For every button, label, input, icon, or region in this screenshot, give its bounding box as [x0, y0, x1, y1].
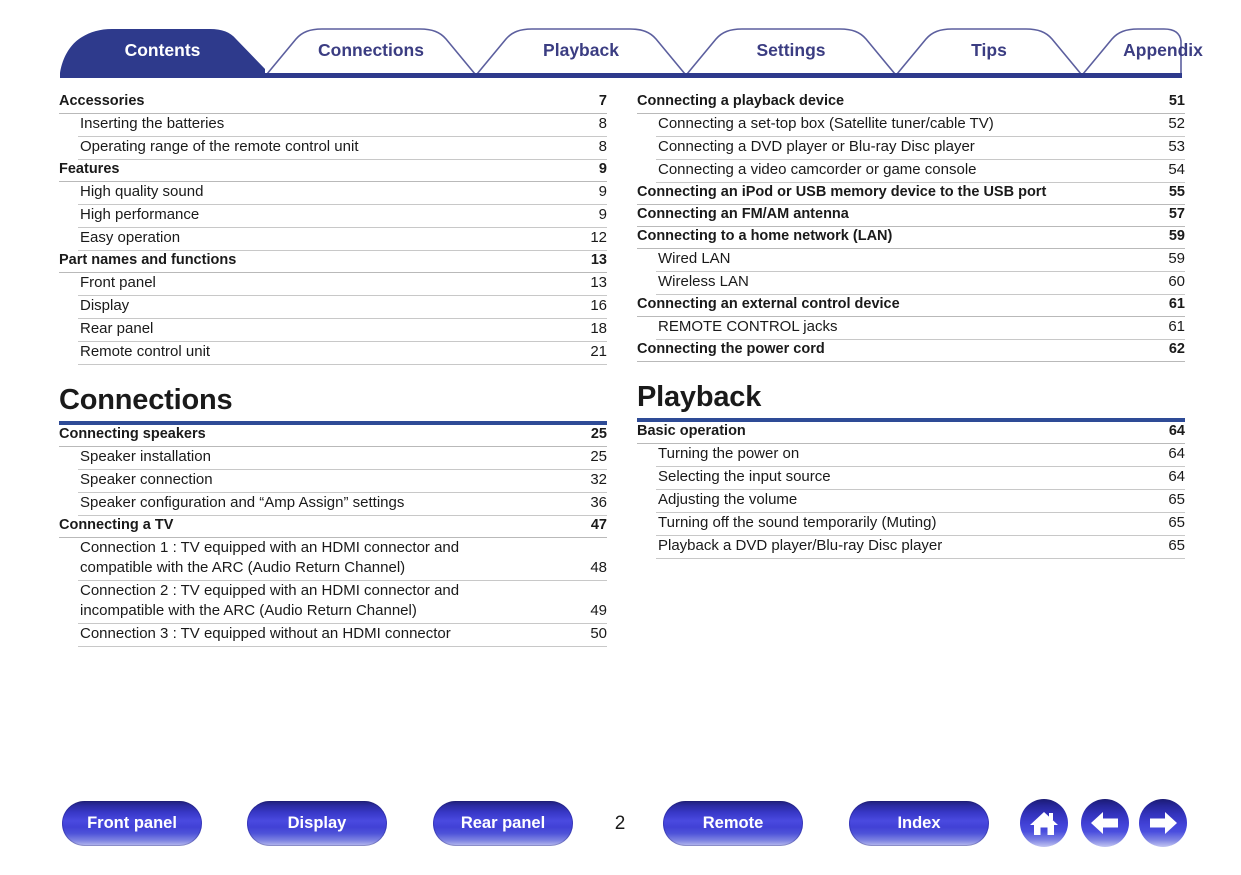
- toc-list: Connecting speakers25Speaker installatio…: [59, 425, 607, 647]
- toc-entry-page: 47: [591, 516, 607, 535]
- toc-entry-page: 12: [590, 228, 607, 248]
- toc-entry-label: Accessories: [59, 92, 144, 111]
- arrow-right-icon[interactable]: [1139, 799, 1187, 847]
- toc-entry-row[interactable]: Speaker installation25: [78, 447, 607, 470]
- toc-entry-page: 51: [1169, 92, 1185, 111]
- tab-bar: Contents Connections Playback Settings T…: [60, 27, 1182, 78]
- toc-entry-label: Rear panel: [78, 319, 153, 339]
- toc-entry-row[interactable]: Connection 1 : TV equipped with an HDMI …: [78, 538, 607, 581]
- tab-tips[interactable]: Tips: [897, 27, 1081, 74]
- toc-entry-page: 65: [1168, 513, 1185, 533]
- toc-entry-page: 61: [1168, 317, 1185, 337]
- page-number: 2: [600, 801, 640, 846]
- toc-entry-page: 59: [1168, 249, 1185, 269]
- toc-entry-label: Connecting a TV: [59, 516, 173, 535]
- toc-entry-label: Playback a DVD player/Blu-ray Disc playe…: [656, 536, 942, 556]
- toc-entry-row[interactable]: Connection 2 : TV equipped with an HDMI …: [78, 581, 607, 624]
- toc-chapter-row[interactable]: Connecting an external control device61: [637, 295, 1185, 317]
- toc-entry-label: Connecting an external control device: [637, 295, 900, 314]
- toc-column-left: Accessories7Inserting the batteries8Oper…: [59, 92, 607, 647]
- toc-entry-row[interactable]: Wireless LAN60: [656, 272, 1185, 295]
- toc-entry-label: Connection 1 : TV equipped with an HDMI …: [78, 538, 508, 578]
- toc-chapter-row[interactable]: Accessories7: [59, 92, 607, 114]
- toc-entry-page: 32: [590, 470, 607, 490]
- toc-list: Accessories7Inserting the batteries8Oper…: [59, 92, 607, 365]
- toc-entry-label: High quality sound: [78, 182, 203, 202]
- toc-entry-row[interactable]: Connection 3 : TV equipped without an HD…: [78, 624, 607, 647]
- toc-entry-page: 48: [590, 558, 607, 578]
- tab-settings[interactable]: Settings: [687, 27, 895, 74]
- toc-chapter-row[interactable]: Features9: [59, 160, 607, 182]
- toc-entry-label: Connecting a playback device: [637, 92, 844, 111]
- section-title: Playback: [637, 380, 1185, 414]
- toc-chapter-row[interactable]: Connecting a TV47: [59, 516, 607, 538]
- toc-chapter-row[interactable]: Connecting to a home network (LAN)59: [637, 227, 1185, 249]
- toc-chapter-row[interactable]: Connecting speakers25: [59, 425, 607, 447]
- tab-playback[interactable]: Playback: [477, 27, 685, 74]
- toc-entry-page: 36: [590, 493, 607, 513]
- toc-entry-label: Easy operation: [78, 228, 180, 248]
- toc-entry-label: Connecting a set-top box (Satellite tune…: [656, 114, 994, 134]
- toc-entry-page: 52: [1168, 114, 1185, 134]
- toc-entry-label: Speaker installation: [78, 447, 211, 467]
- nav-button-rear-panel[interactable]: Rear panel: [433, 801, 573, 846]
- toc-entry-label: Connecting a DVD player or Blu-ray Disc …: [656, 137, 975, 157]
- toc-entry-row[interactable]: Rear panel18: [78, 319, 607, 342]
- toc-entry-page: 65: [1168, 536, 1185, 556]
- toc-entry-page: 54: [1168, 160, 1185, 180]
- toc-entry-page: 8: [599, 114, 607, 134]
- toc-entry-page: 65: [1168, 490, 1185, 510]
- toc-entry-label: Operating range of the remote control un…: [78, 137, 359, 157]
- toc-entry-label: Connecting the power cord: [637, 340, 825, 359]
- toc-chapter-row[interactable]: Basic operation64: [637, 422, 1185, 444]
- toc-entry-label: Connection 2 : TV equipped with an HDMI …: [78, 581, 508, 621]
- toc-entry-page: 16: [590, 296, 607, 316]
- toc-entry-row[interactable]: Display16: [78, 296, 607, 319]
- toc-entry-label: Speaker configuration and “Amp Assign” s…: [78, 493, 404, 513]
- toc-entry-label: Turning the power on: [656, 444, 799, 464]
- toc-entry-label: Display: [78, 296, 129, 316]
- toc-entry-label: Connecting an FM/AM antenna: [637, 205, 849, 224]
- toc-entry-page: 62: [1169, 340, 1185, 359]
- toc-entry-row[interactable]: Playback a DVD player/Blu-ray Disc playe…: [656, 536, 1185, 559]
- toc-entry-label: Part names and functions: [59, 251, 236, 270]
- toc-entry-row[interactable]: Wired LAN59: [656, 249, 1185, 272]
- toc-entry-row[interactable]: Speaker connection32: [78, 470, 607, 493]
- toc-entry-page: 9: [599, 160, 607, 179]
- toc-entry-label: Front panel: [78, 273, 156, 293]
- toc-entry-page: 7: [599, 92, 607, 111]
- toc-entry-label: Connection 3 : TV equipped without an HD…: [78, 624, 451, 644]
- toc-entry-row[interactable]: High performance9: [78, 205, 607, 228]
- toc-entry-label: Speaker connection: [78, 470, 213, 490]
- toc-entry-page: 25: [591, 425, 607, 444]
- toc-entry-page: 13: [590, 273, 607, 293]
- toc-entry-page: 18: [590, 319, 607, 339]
- toc-entry-row[interactable]: Inserting the batteries8: [78, 114, 607, 137]
- toc-entry-row[interactable]: Remote control unit21: [78, 342, 607, 365]
- toc-entry-row[interactable]: Connecting a video camcorder or game con…: [656, 160, 1185, 183]
- toc-entry-page: 64: [1168, 467, 1185, 487]
- toc-entry-page: 9: [599, 205, 607, 225]
- tab-contents[interactable]: Contents: [60, 27, 265, 74]
- toc-entry-label: Connecting a video camcorder or game con…: [656, 160, 977, 180]
- toc-entry-page: 50: [590, 624, 607, 644]
- toc-chapter-row[interactable]: Connecting the power cord62: [637, 340, 1185, 362]
- tab-connections[interactable]: Connections: [267, 27, 475, 74]
- toc-entry-label: Inserting the batteries: [78, 114, 224, 134]
- nav-button-remote[interactable]: Remote: [663, 801, 803, 846]
- toc-entry-label: Basic operation: [637, 422, 746, 441]
- toc-entry-page: 64: [1169, 422, 1185, 441]
- toc-entry-page: 9: [599, 182, 607, 202]
- toc-entry-label: Connecting speakers: [59, 425, 206, 444]
- bottom-navigation-bar: 2 Front panelDisplayRear panelRemoteInde…: [0, 798, 1241, 858]
- toc-entry-page: 61: [1169, 295, 1185, 314]
- toc-chapter-row[interactable]: Connecting a playback device51: [637, 92, 1185, 114]
- toc-entry-label: Selecting the input source: [656, 467, 831, 487]
- toc-entry-page: 64: [1168, 444, 1185, 464]
- toc-entry-page: 8: [599, 137, 607, 157]
- toc-entry-page: 49: [590, 601, 607, 621]
- toc-entry-label: Remote control unit: [78, 342, 210, 362]
- nav-button-display[interactable]: Display: [247, 801, 387, 846]
- toc-entry-label: REMOTE CONTROL jacks: [656, 317, 837, 337]
- toc-entry-page: 60: [1168, 272, 1185, 292]
- toc-entry-row[interactable]: Speaker configuration and “Amp Assign” s…: [78, 493, 607, 516]
- arrow-left-icon[interactable]: [1081, 799, 1129, 847]
- toc-entry-row[interactable]: Connecting a set-top box (Satellite tune…: [656, 114, 1185, 137]
- toc-entry-label: Features: [59, 160, 119, 179]
- toc-entry-row[interactable]: Easy operation12: [78, 228, 607, 251]
- nav-button-index[interactable]: Index: [849, 801, 989, 846]
- toc-entry-row[interactable]: REMOTE CONTROL jacks61: [656, 317, 1185, 340]
- toc-entry-row[interactable]: Operating range of the remote control un…: [78, 137, 607, 160]
- toc-entry-page: 57: [1169, 205, 1185, 224]
- toc-chapter-row[interactable]: Part names and functions13: [59, 251, 607, 273]
- toc-entry-page: 53: [1168, 137, 1185, 157]
- toc-entry-page: 21: [590, 342, 607, 362]
- section-title: Connections: [59, 383, 607, 417]
- toc-list: Basic operation64Turning the power on64S…: [637, 422, 1185, 559]
- toc-entry-label: High performance: [78, 205, 199, 225]
- toc-entry-page: 25: [590, 447, 607, 467]
- toc-column-right: Connecting a playback device51Connecting…: [637, 92, 1185, 559]
- toc-entry-page: 13: [591, 251, 607, 270]
- toc-entry-row[interactable]: Connecting a DVD player or Blu-ray Disc …: [656, 137, 1185, 160]
- toc-entry-page: 59: [1169, 227, 1185, 246]
- toc-entry-row[interactable]: Adjusting the volume65: [656, 490, 1185, 513]
- toc-entry-row[interactable]: Turning off the sound temporarily (Mutin…: [656, 513, 1185, 536]
- toc-entry-label: Wireless LAN: [656, 272, 749, 292]
- toc-entry-label: Wired LAN: [656, 249, 731, 269]
- toc-entry-row[interactable]: Selecting the input source64: [656, 467, 1185, 490]
- toc-entry-label: Connecting an iPod or USB memory device …: [637, 183, 1046, 202]
- toc-entry-row[interactable]: High quality sound9: [78, 182, 607, 205]
- toc-entry-page: 55: [1169, 183, 1185, 202]
- toc-chapter-row[interactable]: Connecting an iPod or USB memory device …: [637, 183, 1185, 205]
- toc-list: Connecting a playback device51Connecting…: [637, 92, 1185, 362]
- toc-entry-row[interactable]: Turning the power on64: [656, 444, 1185, 467]
- toc-entry-label: Connecting to a home network (LAN): [637, 227, 892, 246]
- toc-chapter-row[interactable]: Connecting an FM/AM antenna57: [637, 205, 1185, 227]
- tab-appendix[interactable]: Appendix: [1083, 27, 1241, 74]
- toc-entry-label: Adjusting the volume: [656, 490, 797, 510]
- nav-button-front-panel[interactable]: Front panel: [62, 801, 202, 846]
- toc-entry-row[interactable]: Front panel13: [78, 273, 607, 296]
- home-icon[interactable]: [1020, 799, 1068, 847]
- toc-entry-label: Turning off the sound temporarily (Mutin…: [656, 513, 936, 533]
